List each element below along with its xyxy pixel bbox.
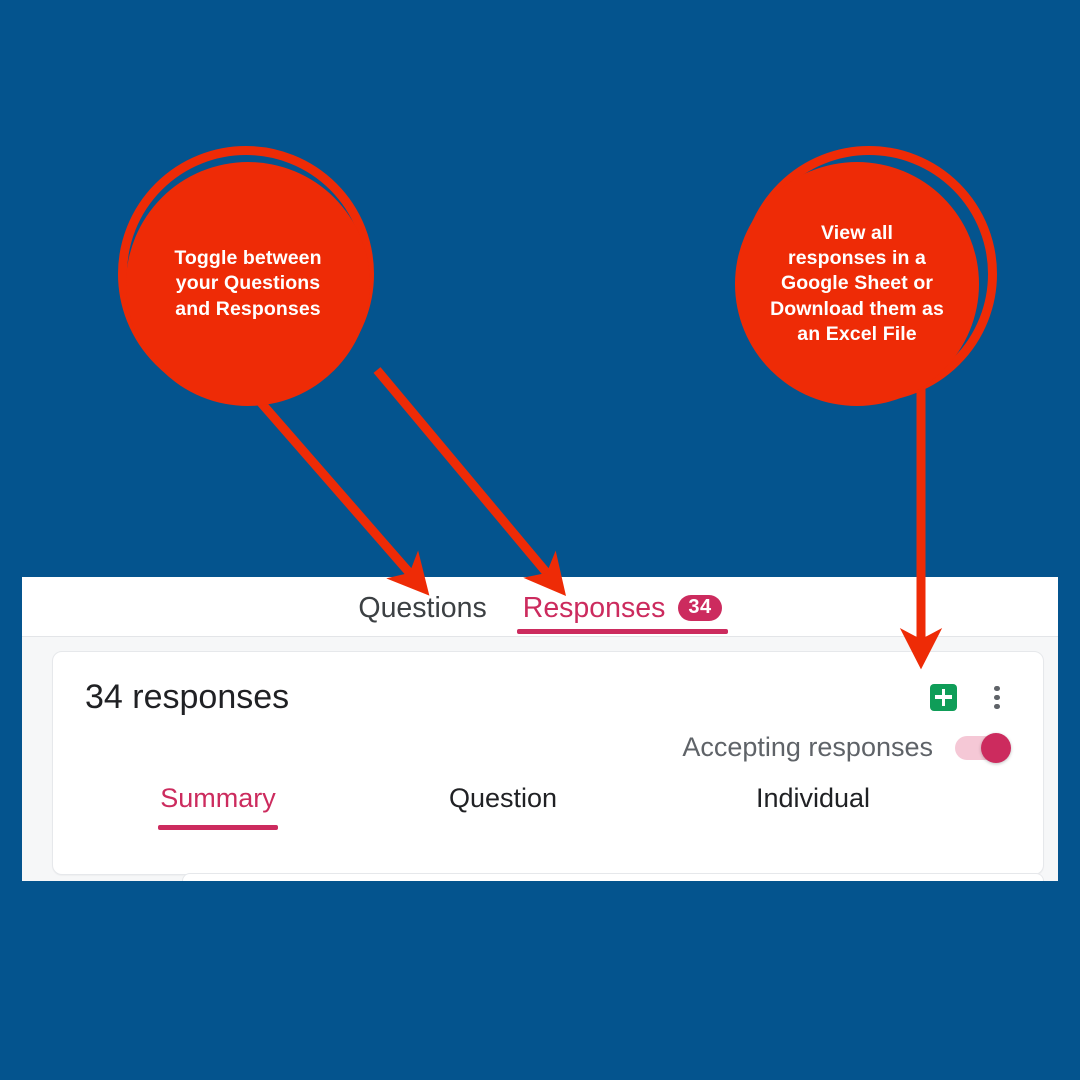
subtab-question[interactable]: Question	[423, 785, 583, 824]
subtab-individual[interactable]: Individual	[728, 785, 898, 824]
google-sheets-icon[interactable]	[930, 684, 957, 711]
subtab-summary[interactable]: Summary	[158, 785, 278, 824]
callout-disc: View all responses in a Google Sheet or …	[735, 162, 979, 406]
accepting-responses-toggle[interactable]	[955, 736, 1009, 760]
card-header-row: 34 responses	[53, 652, 1043, 714]
forms-responses-body: 34 responses Accepting responses	[22, 637, 1058, 881]
callout-disc: Toggle between your Questions and Respon…	[126, 162, 370, 406]
responses-count-badge: 34	[678, 595, 721, 621]
subtab-question-label: Question	[449, 783, 557, 813]
callout-text: Toggle between your Questions and Respon…	[174, 246, 321, 321]
toggle-knob	[981, 733, 1011, 763]
kebab-dot	[994, 695, 999, 700]
tab-responses[interactable]: Responses 34	[517, 594, 728, 637]
more-vertical-icon[interactable]	[987, 684, 1007, 711]
tab-responses-label: Responses	[523, 594, 666, 623]
responses-count-heading: 34 responses	[85, 680, 930, 714]
kebab-dot	[994, 686, 999, 691]
arrow-to-responses-tab	[377, 370, 551, 578]
card-actions	[930, 684, 1007, 711]
google-forms-screenshot-panel: Questions Responses 34 34 responses	[22, 577, 1058, 881]
responses-summary-card: 34 responses Accepting responses	[52, 651, 1044, 875]
tab-questions-label: Questions	[358, 594, 486, 623]
callout-view-responses: View all responses in a Google Sheet or …	[735, 146, 997, 408]
next-card-edge	[182, 873, 1044, 881]
callout-toggle-tabs: Toggle between your Questions and Respon…	[118, 146, 380, 408]
subtab-individual-label: Individual	[756, 783, 870, 813]
accepting-responses-label: Accepting responses	[682, 734, 933, 761]
responses-subtabs: Summary Question Individual	[53, 761, 1043, 824]
accepting-responses-row: Accepting responses	[53, 714, 1043, 761]
arrow-to-questions-tab	[243, 382, 414, 578]
tab-questions[interactable]: Questions	[352, 594, 492, 637]
subtab-summary-label: Summary	[160, 783, 276, 813]
callout-text: View all responses in a Google Sheet or …	[770, 221, 944, 347]
kebab-dot	[994, 704, 999, 709]
forms-tabstrip: Questions Responses 34	[22, 577, 1058, 637]
